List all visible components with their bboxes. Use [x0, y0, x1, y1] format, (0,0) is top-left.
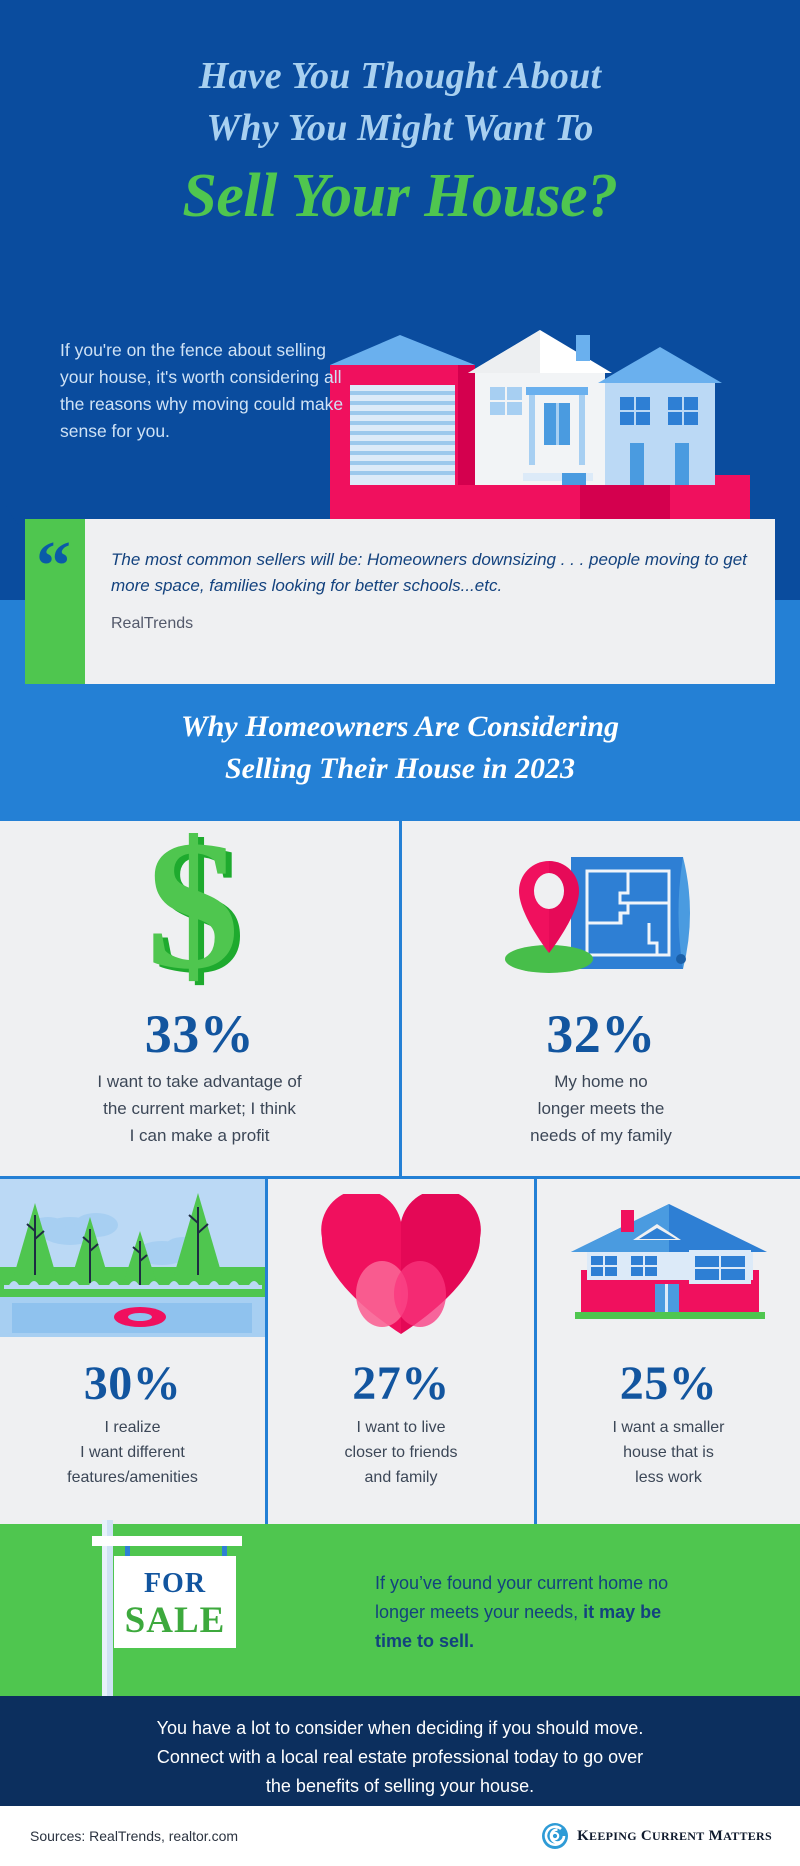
page-title: Have You Thought About Why You Might Wan… [0, 50, 800, 234]
stat-desc-line: needs of my family [530, 1122, 672, 1149]
footer-line-3: the benefits of selling your house. [0, 1772, 800, 1801]
stat-value: 33% [145, 1006, 255, 1062]
kcm-logo-text: KEEPING CURRENT MATTERS [577, 1828, 772, 1845]
infographic-page: Have You Thought About Why You Might Wan… [0, 0, 800, 1866]
source-bar: Sources: RealTrends, realtor.com KEEPING… [0, 1806, 800, 1866]
stat-desc-line: I want to live [345, 1415, 458, 1440]
section-heading-band: Why Homeowners Are Considering Selling T… [0, 684, 800, 821]
stat-value: 27% [352, 1359, 450, 1409]
stat-card-32: 32% My home no longer meets the needs of… [402, 821, 800, 1176]
intro-paragraph: If you're on the fence about selling you… [60, 337, 360, 445]
stat-desc-line: features/amenities [67, 1465, 198, 1490]
footer-line-2: Connect with a local real estate profess… [0, 1743, 800, 1772]
backyard-pool-icon [0, 1179, 265, 1359]
header-section: Have You Thought About Why You Might Wan… [0, 0, 800, 600]
kcm-spiral-icon [541, 1822, 569, 1850]
svg-text:SALE: SALE [125, 1600, 226, 1641]
stat-description: I realize I want different features/amen… [59, 1415, 206, 1490]
stat-value: 30% [84, 1359, 182, 1409]
section-heading-line-2: Selling Their House in 2023 [0, 748, 800, 790]
stat-desc-line: My home no [530, 1068, 672, 1095]
stat-desc-line: I realize [67, 1415, 198, 1440]
quote-accent-bar: “ [25, 519, 85, 684]
stat-description: I want to live closer to friends and fam… [337, 1415, 466, 1490]
cta-band: FOR SALE If you’ve found your current ho… [0, 1524, 800, 1696]
footer-line-1: You have a lot to consider when deciding… [0, 1696, 800, 1743]
floorplan-map-pin-icon [402, 821, 800, 1006]
stat-card-25: 25% I want a smaller house that is less … [537, 1179, 800, 1527]
cta-text: If you’ve found your current home no lon… [375, 1569, 695, 1656]
house-illustration [330, 325, 750, 525]
title-line-1: Have You Thought About [0, 50, 800, 102]
stat-card-30: 30% I realize I want different features/… [0, 1179, 265, 1527]
stat-desc-line: I can make a profit [97, 1122, 301, 1149]
svg-text:FOR: FOR [144, 1568, 206, 1599]
for-sale-sign-icon: FOR SALE [80, 1512, 320, 1697]
quote-source: RealTrends [111, 615, 747, 633]
kcm-logo[interactable]: KEEPING CURRENT MATTERS [541, 1822, 772, 1850]
stat-desc-line: house that is [612, 1440, 724, 1465]
footer-band: You have a lot to consider when deciding… [0, 1696, 800, 1806]
sources-label: Sources: RealTrends, realtor.com [30, 1828, 238, 1844]
stat-card-33: $ $ 33% I want to take advantage of the … [0, 821, 399, 1176]
quote-card: “ The most common sellers will be: Homeo… [25, 519, 775, 684]
stats-row-top: $ $ 33% I want to take advantage of the … [0, 821, 800, 1176]
stat-card-27: 27% I want to live closer to friends and… [268, 1179, 534, 1527]
title-line-2: Why You Might Want To [0, 102, 800, 154]
stat-desc-line: I want a smaller [612, 1415, 724, 1440]
stat-description: I want to take advantage of the current … [83, 1068, 315, 1149]
stat-desc-line: less work [612, 1465, 724, 1490]
quote-mark-icon: “ [36, 547, 71, 587]
stat-value: 32% [546, 1006, 656, 1062]
stat-value: 25% [620, 1359, 718, 1409]
small-house-icon [537, 1179, 800, 1359]
stats-row-bottom: 30% I realize I want different features/… [0, 1179, 800, 1527]
title-line-3: Sell Your House? [0, 158, 800, 234]
quote-text: The most common sellers will be: Homeown… [111, 547, 747, 599]
stat-desc-line: closer to friends [345, 1440, 458, 1465]
stat-desc-line: I want different [67, 1440, 198, 1465]
stat-desc-line: and family [345, 1465, 458, 1490]
stats-grid: $ $ 33% I want to take advantage of the … [0, 821, 800, 1527]
stat-desc-line: longer meets the [530, 1095, 672, 1122]
quote-body: The most common sellers will be: Homeown… [85, 519, 775, 684]
stat-desc-line: the current market; I think [97, 1095, 301, 1122]
section-heading-line-1: Why Homeowners Are Considering [0, 684, 800, 748]
stat-description: I want a smaller house that is less work [604, 1415, 732, 1490]
stat-desc-line: I want to take advantage of [97, 1068, 301, 1095]
svg-text:$: $ [146, 831, 239, 996]
stat-description: My home no longer meets the needs of my … [516, 1068, 686, 1149]
dollar-sign-icon: $ $ [0, 821, 399, 1006]
heart-icon [268, 1179, 534, 1359]
